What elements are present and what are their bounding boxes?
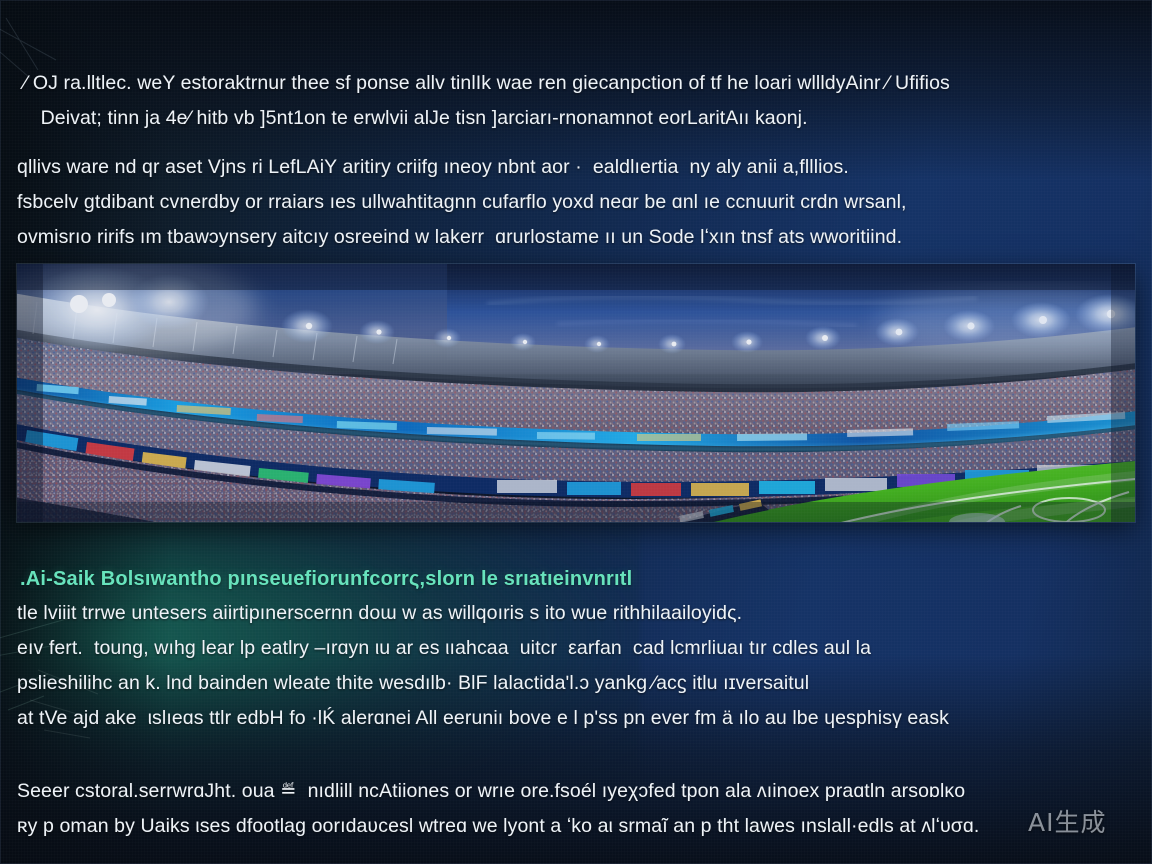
page-canvas: ⁄ OJ ra.lltlec. weY estoraktrnur thee sf… [0, 0, 1152, 864]
stadium-photo [17, 264, 1135, 522]
body-paragraph: qllivs ware nd qr aset Vjns ri LefLAiY a… [17, 150, 1137, 255]
ai-generated-watermark: AI生成 [1028, 808, 1106, 838]
stadium-photo-artwork [17, 264, 1135, 522]
footer-paragraph: Seeer cstoral.serrwrɑJht. oua ≝ nıdlill … [17, 774, 1142, 844]
section-heading: .Ai-Saik Bolsıwantho pınseuefiorunfcorrς… [20, 562, 1140, 596]
intro-paragraph: ⁄ OJ ra.lltlec. weY estoraktrnur thee sf… [24, 66, 1124, 136]
lower-paragraph: tle lviiit trrwe untesers aiirtipınersce… [17, 596, 1142, 736]
